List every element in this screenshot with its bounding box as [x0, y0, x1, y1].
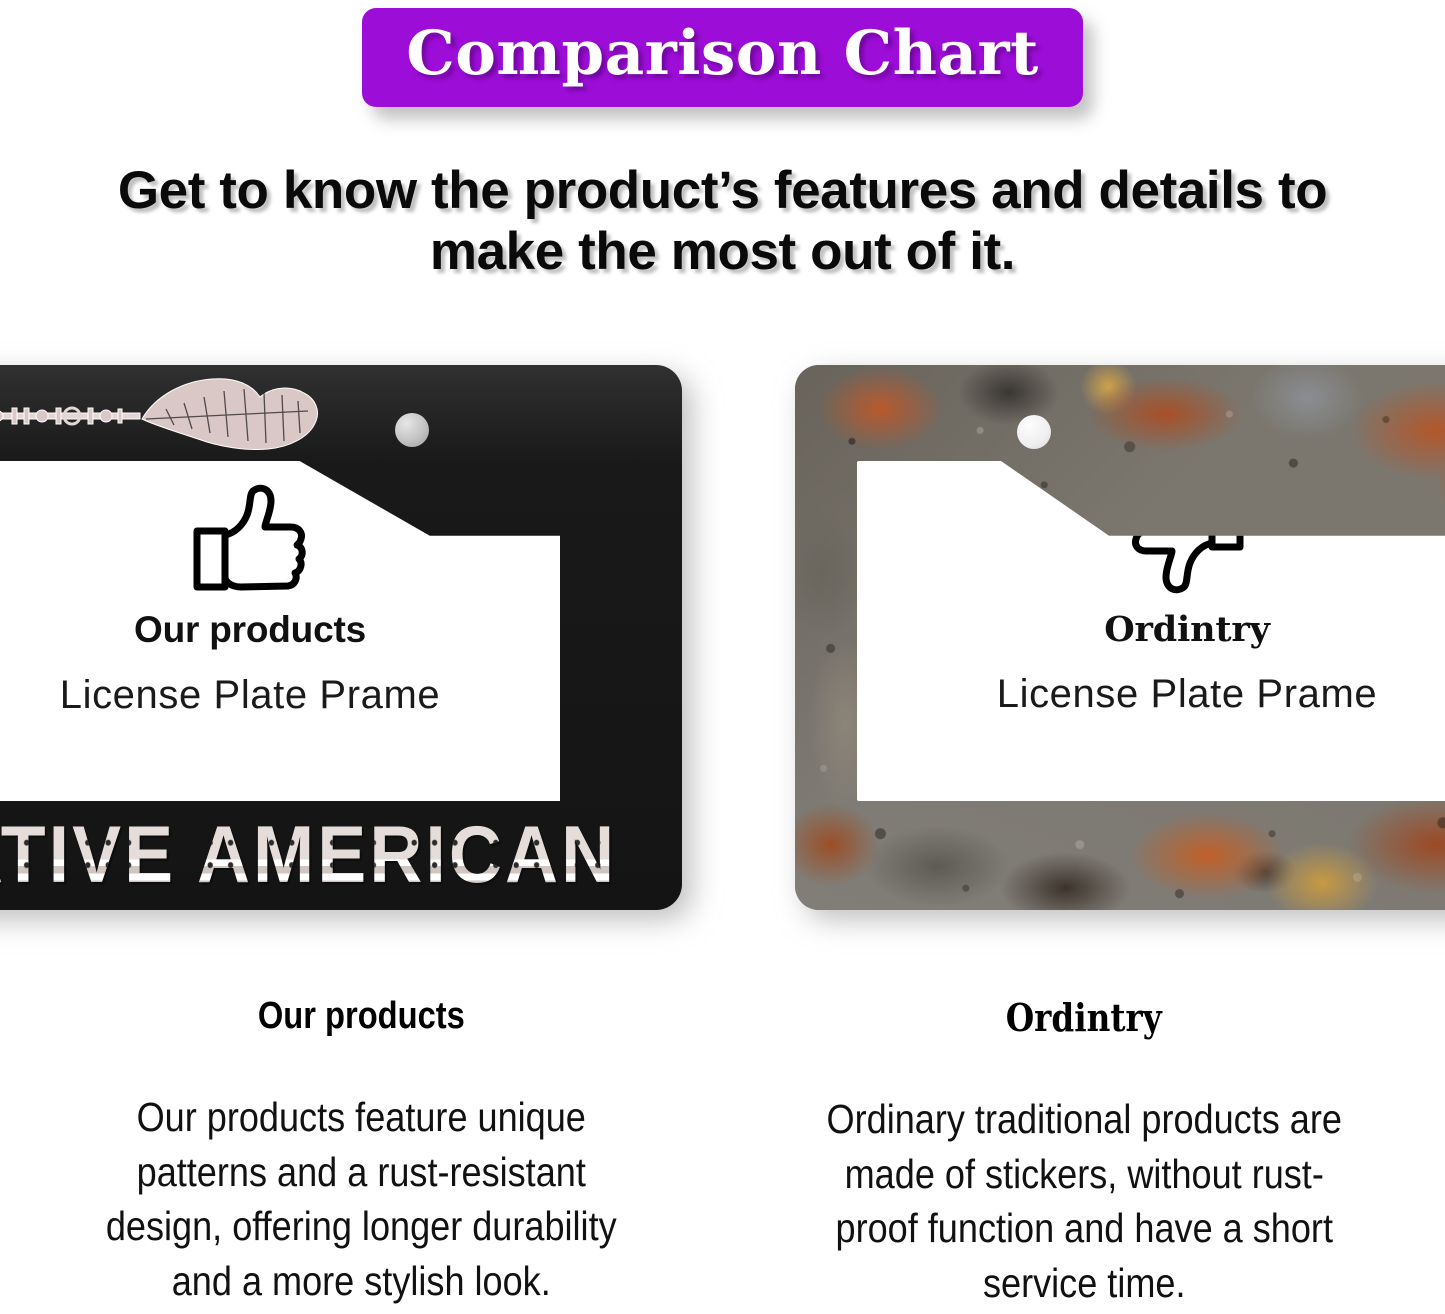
comparison-chart-page: Comparison Chart Get to know the product… — [0, 0, 1445, 1314]
comparison-body-ours: Our products feature unique patterns and… — [86, 1090, 637, 1308]
native-american-band: NATIVE AMERICAN — [0, 800, 620, 910]
our-product-plate-frame: Our products License Plate Prame NATIVE … — [0, 365, 682, 910]
title-banner-container: Comparison Chart — [0, 8, 1445, 107]
comparison-heading-ordinary: Ordintry — [1006, 995, 1162, 1040]
product-frames-row: Our products License Plate Prame NATIVE … — [0, 365, 1445, 925]
mounting-hole — [1017, 415, 1051, 449]
plate-inframe-subtitle-right: License Plate Prame — [997, 672, 1377, 717]
comparison-descriptions-row: Our products Our products feature unique… — [0, 995, 1445, 1314]
ordinary-product-plate-frame: Ordintry License Plate Prame — [795, 365, 1445, 910]
comparison-column-ours: Our products Our products feature unique… — [0, 995, 723, 1314]
thumbs-up-icon — [191, 483, 309, 595]
mounting-hole — [395, 413, 429, 447]
page-subtitle: Get to know the product’s features and d… — [0, 160, 1445, 283]
comparison-body-ordinary: Ordinary traditional products are made o… — [808, 1092, 1359, 1310]
feather-arrow-icon — [0, 375, 380, 461]
plate-inframe-subtitle-left: License Plate Prame — [60, 673, 440, 718]
comparison-column-ordinary: Ordintry Ordinary traditional products a… — [723, 995, 1445, 1314]
plate-body-black: Our products License Plate Prame NATIVE … — [0, 365, 682, 910]
comparison-heading-ours: Our products — [258, 995, 465, 1038]
plate-body-rusted: Ordintry License Plate Prame — [795, 365, 1445, 910]
plate-inframe-title-right: Ordintry — [1104, 609, 1270, 650]
page-title: Comparison Chart — [406, 14, 1039, 95]
native-american-text: NATIVE AMERICAN — [0, 809, 617, 901]
title-banner: Comparison Chart — [362, 8, 1083, 107]
plate-inframe-title-left: Our products — [134, 609, 366, 651]
